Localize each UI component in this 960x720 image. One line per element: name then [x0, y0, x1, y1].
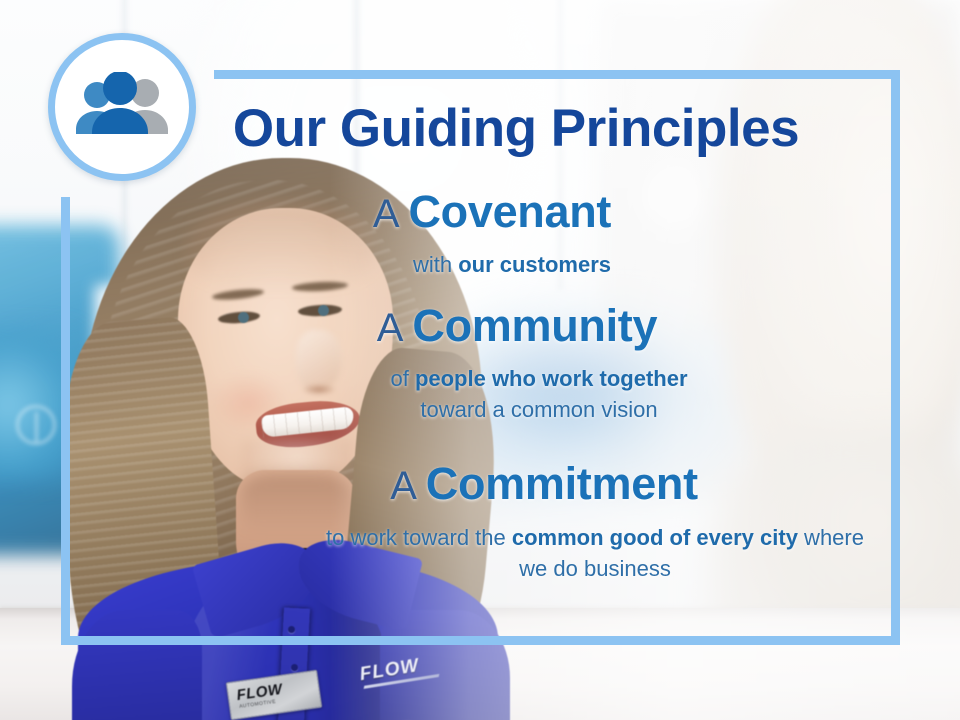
principle-heading: A Commitment	[128, 458, 960, 510]
subtext-emphasis: our customers	[458, 252, 611, 277]
subtext-trail: where	[798, 525, 864, 550]
principle-subtext: of people who work together toward a com…	[74, 363, 960, 425]
page-title: Our Guiding Principles	[0, 98, 960, 159]
subtext-lead: to work toward the	[326, 525, 512, 550]
principle-keyword: Commitment	[426, 458, 698, 509]
subtext-emphasis: common good of every city	[512, 525, 798, 550]
principle-community: A Community of people who work together …	[0, 300, 960, 425]
subtext-line2: we do business	[519, 556, 671, 581]
banner-stage: FLOW FLOW AUTOMOTIVE	[0, 0, 960, 720]
principle-commitment: A Commitment to work toward the common g…	[0, 458, 960, 584]
principle-keyword: Covenant	[408, 186, 611, 237]
principle-article: A	[390, 464, 426, 508]
principle-heading: A Covenant	[24, 186, 960, 238]
principle-subtext: to work toward the common good of every …	[128, 522, 960, 584]
principle-keyword: Community	[412, 300, 657, 351]
principle-article: A	[373, 192, 409, 236]
principle-covenant: A Covenant with our customers	[0, 186, 960, 280]
text-content: Our Guiding Principles A Covenant with o…	[0, 0, 960, 720]
subtext-lead: with	[413, 252, 458, 277]
subtext-line2: toward a common vision	[420, 397, 657, 422]
principle-article: A	[377, 306, 413, 350]
subtext-lead: of	[390, 366, 414, 391]
principle-heading: A Community	[74, 300, 960, 352]
principle-subtext: with our customers	[24, 249, 960, 280]
subtext-emphasis: people who work together	[415, 366, 688, 391]
